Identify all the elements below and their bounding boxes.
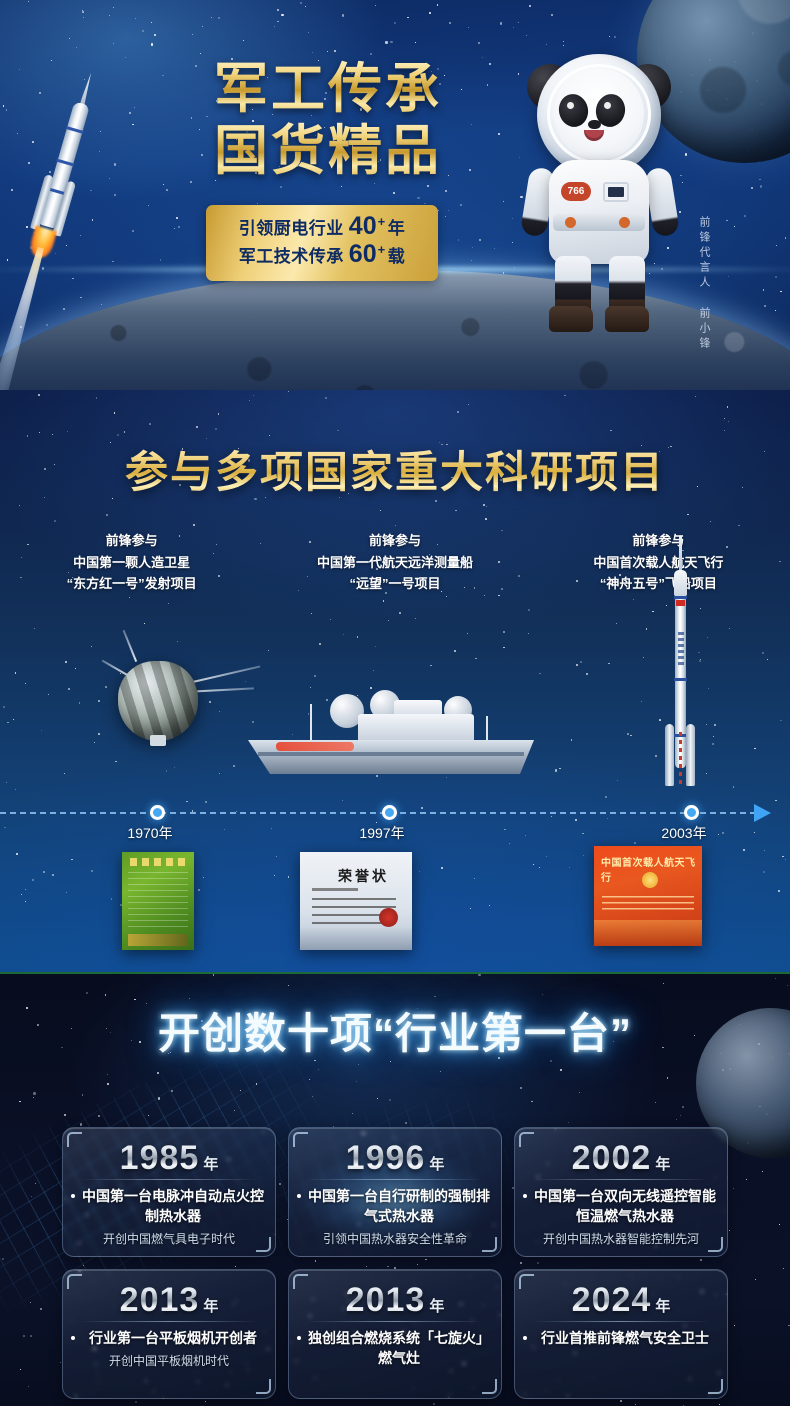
hero-stats-badge: 引领厨电行业 40 + 年 军工技术传承 60 + 载 <box>206 205 438 281</box>
certificate-header-ornament <box>130 858 186 866</box>
certificate-image-2003[interactable]: 中国首次载人航天飞行 <box>594 846 702 946</box>
milestone-sub-text: 开创中国平板烟机时代 <box>71 1353 267 1370</box>
launch-rocket-capsule <box>674 570 687 596</box>
hero-stat-2-prefix: 军工技术传承 <box>239 244 344 269</box>
timeline-dot-1970[interactable] <box>150 805 165 820</box>
milestone-year-number: 1985 <box>120 1139 200 1177</box>
china-flag-icon <box>676 600 685 606</box>
milestone-year-2002: 2002 年 <box>523 1139 719 1177</box>
milestone-card-2013-a[interactable]: 2013 年 行业第一台平板烟机开创者 开创中国平板烟机时代 <box>62 1269 276 1399</box>
launch-rocket-booster-left <box>665 724 674 786</box>
mascot-boot-left <box>549 306 593 332</box>
milestone-card-grid: 1985 年 中国第一台电脉冲自动点火控制热水器 开创中国燃气具电子时代 199… <box>62 1127 728 1399</box>
mascot-caption: 前锋代言人 前小锋 <box>694 216 714 352</box>
project-caption-1-line1: 中国第一颗人造卫星 <box>73 555 190 570</box>
certificate-emblem-icon <box>642 872 658 888</box>
timeline-dot-1997[interactable] <box>382 805 397 820</box>
milestone-main-text: 中国第一台自行研制的强制排气式热水器 <box>297 1186 493 1226</box>
project-caption-2-line2: “远望”一号项目 <box>349 576 440 591</box>
milestone-year-2013-b: 2013 年 <box>297 1281 493 1319</box>
mascot-number-badge: 766 <box>561 182 591 201</box>
timeline-dot-2003[interactable] <box>684 805 699 820</box>
section3-title: 开创数十项“行业第一台” <box>0 1000 790 1061</box>
milestone-main-label: 中国第一台电脉冲自动点火控制热水器 <box>82 1188 264 1224</box>
card-divider <box>533 1321 709 1322</box>
card-divider <box>81 1321 257 1322</box>
ship-mast <box>310 704 312 744</box>
milestone-main-text: 中国第一台电脉冲自动点火控制热水器 <box>71 1186 267 1226</box>
launch-rocket-band <box>674 596 687 599</box>
milestone-sub-text: 引领中国热水器安全性革命 <box>297 1231 493 1248</box>
milestone-main-label: 行业首推前锋燃气安全卫士 <box>541 1330 709 1346</box>
satellite-body <box>118 661 198 741</box>
bullet-icon <box>523 1194 527 1198</box>
mascot-visor <box>547 64 651 164</box>
hero-stat-line-1: 引领厨电行业 40 + 年 <box>216 214 428 242</box>
hero-stat-1-number: 40 <box>349 214 377 239</box>
card-divider <box>307 1179 483 1180</box>
milestone-card-2024[interactable]: 2024 年 行业首推前锋燃气安全卫士 <box>514 1269 728 1399</box>
hero-title-line2: 国货精品 <box>178 120 478 182</box>
card-divider <box>307 1321 483 1322</box>
hero-stat-2-suffix: 载 <box>388 244 406 269</box>
milestone-year-1985: 1985 年 <box>71 1139 267 1177</box>
project-caption-2-line1: 中国第一代航天远洋测量船 <box>317 555 473 570</box>
mascot-caption-name: 前小锋 <box>698 307 710 352</box>
timeline-axis <box>0 812 756 814</box>
milestone-card-1985[interactable]: 1985 年 中国第一台电脉冲自动点火控制热水器 开创中国燃气具电子时代 <box>62 1127 276 1257</box>
milestone-sub-text: 开创中国热水器智能控制先河 <box>523 1231 719 1248</box>
milestone-year-number: 1996 <box>346 1139 426 1177</box>
milestone-sub-text: 开创中国燃气具电子时代 <box>71 1231 267 1248</box>
milestone-main-label: 中国第一台自行研制的强制排气式热水器 <box>308 1188 490 1224</box>
milestone-main-text: 行业第一台平板烟机开创者 <box>71 1328 267 1348</box>
tracking-ship-illustration <box>248 690 534 782</box>
certificate-recipient-line <box>312 888 358 891</box>
hero-title-line1: 军工传承 <box>178 58 478 120</box>
milestone-year-unit: 年 <box>429 1295 444 1316</box>
mascot-suit-body: 766 <box>549 160 649 264</box>
product-landing-page: 军工传承 国货精品 引领厨电行业 40 + 年 军工技术传承 60 + 载 <box>0 0 790 1406</box>
bullet-icon <box>297 1194 301 1198</box>
timeline-label-3: 2003年 <box>624 823 744 843</box>
project-caption-3-line1: 中国首次载人航天飞行 <box>593 555 723 570</box>
section2-title: 参与多项国家重大科研项目 <box>0 438 790 500</box>
rocket-exhaust-trail <box>0 245 51 390</box>
milestone-year-number: 2002 <box>572 1139 652 1177</box>
bullet-icon <box>71 1336 75 1340</box>
ship-mast <box>486 716 488 744</box>
industry-firsts-section: 开创数十项“行业第一台” 1985 年 中国第一台电脉冲自动点火控制热水器 开创… <box>0 972 790 1406</box>
mascot-boot-right <box>605 306 649 332</box>
mascot-chest-patch <box>603 182 629 202</box>
ship-superstructure <box>358 714 474 742</box>
milestone-year-unit: 年 <box>655 1153 670 1174</box>
project-caption-2: 前锋参与 中国第一代航天远洋测量船 “远望”一号项目 <box>263 530 526 594</box>
launch-rocket-red-stripe <box>679 732 682 784</box>
certificate-body-text <box>602 896 694 914</box>
milestone-year-1996: 1996 年 <box>297 1139 493 1177</box>
milestone-main-label: 中国第一台双向无线遥控智能恒温燃气热水器 <box>534 1188 716 1224</box>
launch-rocket-text-mark <box>678 632 684 666</box>
hero-section: 军工传承 国货精品 引领厨电行业 40 + 年 军工技术传承 60 + 载 <box>0 0 790 390</box>
hero-stat-1-plus: + <box>378 209 386 234</box>
mascot-pupil-right <box>604 102 611 109</box>
certificate-image-1970[interactable] <box>122 852 194 950</box>
mascot-caption-role: 前锋代言人 <box>698 216 710 291</box>
milestone-main-label: 行业第一台平板烟机开创者 <box>89 1330 257 1346</box>
satellite-base <box>150 735 166 746</box>
milestone-year-number: 2013 <box>120 1281 200 1319</box>
project-caption-3-head: 前锋参与 <box>527 530 790 551</box>
milestone-year-number: 2013 <box>346 1281 426 1319</box>
hero-stat-2-plus: + <box>378 237 386 262</box>
project-caption-2-head: 前锋参与 <box>263 530 526 551</box>
project-caption-1-head: 前锋参与 <box>0 530 263 551</box>
mascot-nose <box>588 120 601 129</box>
mascot-belt <box>553 214 645 231</box>
certificate-body-text <box>128 872 188 932</box>
milestone-year-2024: 2024 年 <box>523 1281 719 1319</box>
hero-headline: 军工传承 国货精品 <box>178 58 478 182</box>
mascot-arm-right <box>644 166 680 237</box>
milestone-year-unit: 年 <box>655 1295 670 1316</box>
certificate-seal-icon <box>379 908 398 927</box>
milestone-year-2013-a: 2013 年 <box>71 1281 267 1319</box>
milestone-card-1996[interactable]: 1996 年 中国第一台自行研制的强制排气式热水器 引领中国热水器安全性革命 <box>288 1127 502 1257</box>
bullet-icon <box>523 1336 527 1340</box>
milestone-year-unit: 年 <box>203 1295 218 1316</box>
panda-astronaut-mascot: 766 <box>505 42 695 352</box>
timeline-label-2: 1997年 <box>322 823 442 843</box>
hero-stat-line-2: 军工技术传承 60 + 载 <box>216 242 428 270</box>
milestone-card-2002[interactable]: 2002 年 中国第一台双向无线遥控智能恒温燃气热水器 开创中国热水器智能控制先… <box>514 1127 728 1257</box>
certificate-title-1997: 荣誉状 <box>338 866 389 886</box>
certificate-footer-ornament <box>128 934 188 946</box>
launch-rocket-booster-right <box>686 724 695 786</box>
certificate-image-1997[interactable]: 荣誉状 <box>300 852 412 950</box>
milestone-main-text: 独创组合燃烧系统「七旋火」燃气灶 <box>297 1328 493 1368</box>
project-caption-1: 前锋参与 中国第一颗人造卫星 “东方红一号”发射项目 <box>0 530 263 594</box>
milestone-year-number: 2024 <box>572 1281 652 1319</box>
ship-lifeboats <box>276 742 354 751</box>
card-divider <box>533 1179 709 1180</box>
milestone-main-text: 行业首推前锋燃气安全卫士 <box>523 1328 719 1348</box>
certificate-footer-ornament <box>594 920 702 946</box>
card-divider <box>81 1179 257 1180</box>
certificate-photo-footer <box>300 928 412 950</box>
milestone-main-label: 独创组合燃烧系统「七旋火」燃气灶 <box>308 1330 490 1366</box>
ship-hull-stripe <box>258 752 524 756</box>
bullet-icon <box>71 1194 75 1198</box>
milestone-card-2013-b[interactable]: 2013 年 独创组合燃烧系统「七旋火」燃气灶 <box>288 1269 502 1399</box>
project-caption-1-line2: “东方红一号”发射项目 <box>67 576 197 591</box>
milestone-year-unit: 年 <box>203 1153 218 1174</box>
timeline-label-1: 1970年 <box>90 823 210 843</box>
hero-stat-1-prefix: 引领厨电行业 <box>239 216 344 241</box>
project-caption-3: 前锋参与 中国首次载人航天飞行 “神舟五号”飞船项目 <box>527 530 790 594</box>
satellite-illustration <box>112 655 204 747</box>
timeline-arrow-icon <box>754 804 771 822</box>
rocket-nose-icon <box>79 72 93 106</box>
milestone-year-unit: 年 <box>429 1153 444 1174</box>
mascot-pupil-left <box>567 102 574 109</box>
hero-stat-2-number: 60 <box>349 242 377 267</box>
hero-stat-1-suffix: 年 <box>388 216 406 241</box>
milestone-main-text: 中国第一台双向无线遥控智能恒温燃气热水器 <box>523 1186 719 1226</box>
launch-rocket-band <box>674 678 687 681</box>
shenzhou-rocket-illustration <box>660 536 700 800</box>
bullet-icon <box>297 1336 301 1340</box>
